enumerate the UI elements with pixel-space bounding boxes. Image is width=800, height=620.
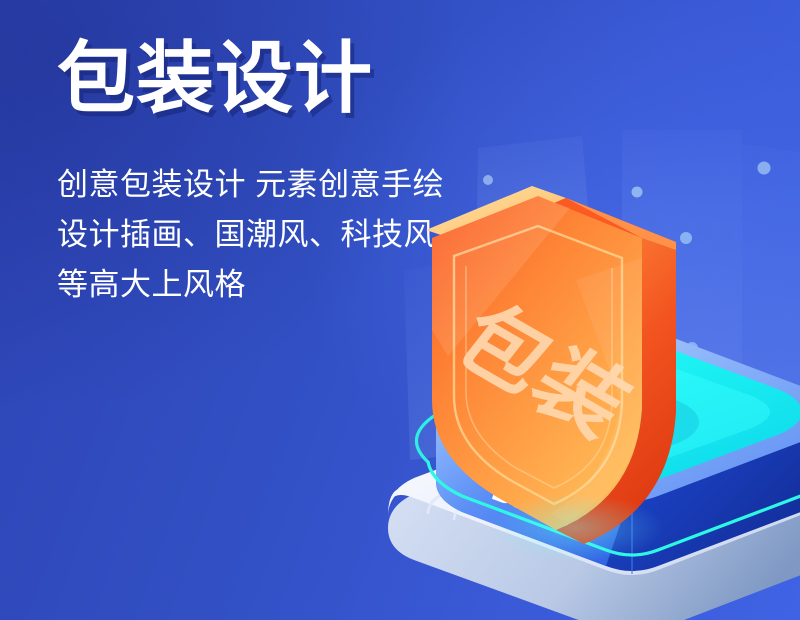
shield-glow — [488, 494, 664, 562]
particle-dot — [680, 232, 692, 244]
particle-dot — [758, 162, 771, 175]
particle-dot — [632, 187, 643, 198]
shield-illustration: Brand 包装 — [370, 130, 800, 620]
page-title: 包装设计 — [57, 38, 537, 120]
particle-dot — [483, 175, 493, 185]
packaging-design-banner: 包装设计 创意包装设计 元素创意手绘 设计插画、国潮风、科技风 等高大上风格 — [0, 0, 800, 620]
